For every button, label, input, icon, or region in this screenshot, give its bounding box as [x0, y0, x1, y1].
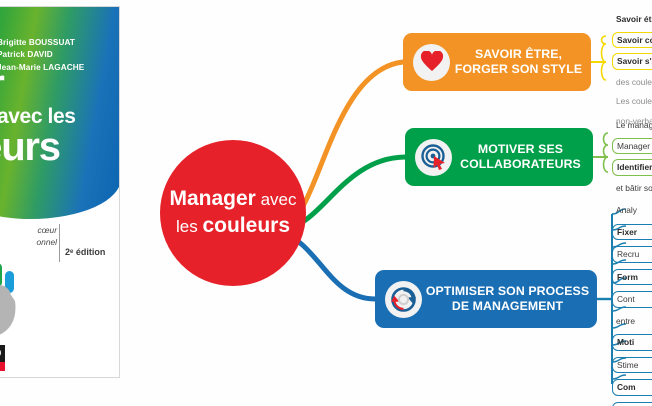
central-word-les: les	[176, 217, 202, 236]
book-author-2: Patrick DAVID	[0, 49, 117, 61]
central-node-label: Manager avec les couleurs	[162, 186, 305, 240]
book-edition-label: 2ᵉ édition	[65, 247, 105, 257]
central-word-avec: avec	[256, 190, 297, 209]
colored-hand-illustration	[0, 259, 37, 343]
branch-blue-line1: OPTIMISER SON PROCESS	[426, 284, 589, 298]
sub-item-green-2[interactable]: Manager l	[612, 138, 652, 155]
branch-blue-line2: DE MANAGEMENT	[452, 299, 563, 313]
book-title-line2: uleurs	[0, 125, 60, 170]
sub-item-blue-9[interactable]: Com	[612, 379, 652, 396]
publisher-name: OD	[0, 345, 5, 362]
sub-items-optimiser: AnalyFixerRecruFormContentreMotiStimeCom…	[612, 203, 652, 406]
branch-green-line2: COLLABORATEURS	[460, 157, 581, 171]
heart-icon	[413, 44, 450, 81]
sub-item-orange-5[interactable]: Les coule	[612, 94, 652, 109]
sub-item-green-1[interactable]: Le manage	[612, 118, 652, 133]
book-cover-image: Brigitte BOUSSUAT Patrick DAVID Jean-Mar…	[0, 6, 120, 378]
sub-item-green-4[interactable]: et bâtir so	[612, 181, 652, 196]
central-word-manager: Manager	[170, 187, 256, 210]
sub-item-green-3[interactable]: Identifier	[612, 159, 652, 176]
mindmap-canvas: Brigitte BOUSSUAT Patrick DAVID Jean-Mar…	[0, 0, 652, 406]
sub-item-blue-6[interactable]: entre	[612, 314, 652, 329]
branch-optimiser-label: OPTIMISER SON PROCESS DE MANAGEMENT	[422, 284, 597, 314]
book-title-line1: ger	[0, 65, 120, 103]
book-strapline-divider	[59, 224, 60, 262]
central-word-couleurs: couleurs	[202, 214, 290, 237]
sub-item-orange-2[interactable]: Savoir co	[612, 32, 652, 49]
sub-item-blue-7[interactable]: Moti	[612, 334, 652, 351]
sub-item-blue-10[interactable]: Régu	[612, 402, 652, 406]
book-author-1: Brigitte BOUSSUAT	[0, 37, 117, 49]
sub-item-blue-1[interactable]: Analy	[612, 203, 652, 218]
branch-motiver[interactable]: MOTIVER SES COLLABORATEURS	[405, 128, 593, 186]
book-strapline: cœuronnel	[0, 225, 57, 248]
sub-item-orange-1[interactable]: Savoir étr	[612, 12, 652, 27]
branch-orange-line1: SAVOIR ÊTRE,	[475, 47, 562, 61]
branch-orange-line2: FORGER SON STYLE	[455, 62, 582, 76]
branch-optimiser[interactable]: OPTIMISER SON PROCESS DE MANAGEMENT	[375, 270, 597, 328]
branch-savoir-etre-label: SAVOIR ÊTRE, FORGER SON STYLE	[450, 47, 591, 77]
branch-green-line1: MOTIVER SES	[478, 142, 563, 156]
spine-orange	[602, 36, 607, 80]
branch-savoir-etre[interactable]: SAVOIR ÊTRE, FORGER SON STYLE	[403, 33, 591, 91]
branch-motiver-label: MOTIVER SES COLLABORATEURS	[452, 142, 593, 172]
sub-item-orange-4[interactable]: des coule	[612, 75, 652, 90]
sub-item-blue-2[interactable]: Fixer	[612, 224, 652, 241]
refresh-cycle-icon	[385, 281, 422, 318]
publisher-logo: OD	[0, 345, 5, 371]
central-node[interactable]: Manager avec les couleurs	[160, 140, 306, 286]
sub-item-blue-5[interactable]: Cont	[612, 291, 652, 308]
sub-items-motiver: Le manageManager lIdentifieret bâtir so	[612, 118, 652, 200]
sub-items-savoir-etre: Savoir étrSavoir coSavoir s'ades couleLe…	[612, 12, 652, 133]
target-cursor-icon	[415, 139, 452, 176]
sub-item-blue-4[interactable]: Form	[612, 269, 652, 286]
spine-green	[604, 133, 609, 172]
sub-item-orange-3[interactable]: Savoir s'a	[612, 53, 652, 70]
sub-item-blue-8[interactable]: Stime	[612, 357, 652, 374]
sub-item-blue-3[interactable]: Recru	[612, 246, 652, 263]
publisher-logo-bar	[0, 362, 5, 371]
